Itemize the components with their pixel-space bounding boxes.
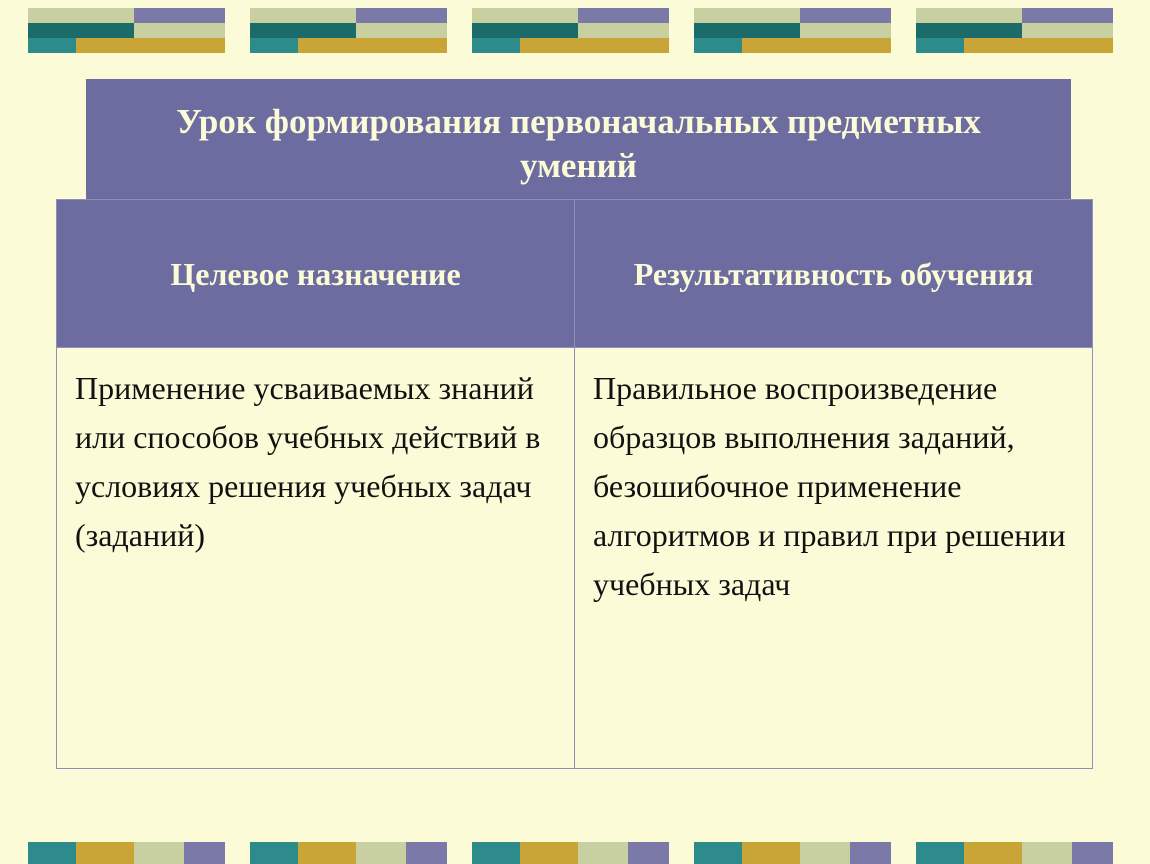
decor-bar-gold xyxy=(964,38,1113,53)
decor-bar-gold xyxy=(298,38,447,53)
decor-bar-olive xyxy=(694,8,800,23)
decor-bar-teal xyxy=(694,842,742,864)
decor-bar-purple xyxy=(134,8,225,23)
decor-bar-gold xyxy=(742,842,800,864)
decor-bar-purple xyxy=(850,842,891,864)
table-header: Целевое назначение Результативность обуч… xyxy=(57,200,1093,348)
page-title: Урок формирования первоначальных предмет… xyxy=(116,100,1041,188)
table-body: Применение усваиваемых знаний или способ… xyxy=(57,348,1093,769)
decor-bar-teal xyxy=(472,23,578,38)
decor-bar-gold xyxy=(520,842,578,864)
decor-bar-olive xyxy=(916,8,1022,23)
decor-bar-olive xyxy=(134,842,184,864)
decor-bar-olive xyxy=(578,842,628,864)
decor-bar-teal xyxy=(472,38,520,53)
table-header-effectiveness: Результативность обучения xyxy=(575,200,1093,348)
table-header-purpose: Целевое назначение xyxy=(57,200,575,348)
table-cell-purpose: Применение усваиваемых знаний или способ… xyxy=(57,348,575,769)
decor-bar-purple xyxy=(406,842,447,864)
decor-bar-olive xyxy=(472,8,578,23)
decor-bar-teal xyxy=(28,23,134,38)
decor-bar-teal xyxy=(916,38,964,53)
decor-bar-olive xyxy=(134,23,225,38)
decor-bar-teal xyxy=(694,38,742,53)
slide-title-banner: Урок формирования первоначальных предмет… xyxy=(86,79,1071,204)
decor-bar-gold xyxy=(742,38,891,53)
decor-bar-teal xyxy=(916,23,1022,38)
decor-bar-gold xyxy=(964,842,1022,864)
bottom-decorative-band xyxy=(0,838,1150,864)
content-table-wrapper: Целевое назначение Результативность обуч… xyxy=(56,199,1092,769)
decor-block-bottom xyxy=(694,842,891,864)
decor-block-bottom xyxy=(28,842,225,864)
decor-block xyxy=(916,8,1113,54)
decor-block-bottom xyxy=(250,842,447,864)
decor-bar-purple xyxy=(184,842,225,864)
content-table: Целевое назначение Результативность обуч… xyxy=(56,199,1093,769)
decor-bar-teal xyxy=(250,38,298,53)
decor-bar-olive xyxy=(800,842,850,864)
decor-bar-olive xyxy=(356,842,406,864)
decor-bar-teal xyxy=(916,842,964,864)
decor-bar-purple xyxy=(628,842,669,864)
top-decorative-band xyxy=(0,0,1150,62)
decor-block xyxy=(250,8,447,54)
decor-bar-gold xyxy=(76,38,225,53)
decor-bar-teal xyxy=(472,842,520,864)
decor-bar-olive xyxy=(1022,23,1113,38)
decor-block xyxy=(28,8,225,54)
decor-block-bottom xyxy=(472,842,669,864)
decor-bar-teal xyxy=(28,38,76,53)
decor-bar-olive xyxy=(578,23,669,38)
decor-block xyxy=(694,8,891,54)
decor-bar-gold xyxy=(520,38,669,53)
decor-bar-purple xyxy=(356,8,447,23)
decor-bar-purple xyxy=(578,8,669,23)
decor-bar-olive xyxy=(250,8,356,23)
decor-bar-olive xyxy=(356,23,447,38)
decor-bar-purple xyxy=(800,8,891,23)
table-row: Применение усваиваемых знаний или способ… xyxy=(57,348,1093,769)
decor-bar-purple xyxy=(1072,842,1113,864)
decor-bar-gold xyxy=(76,842,134,864)
table-header-row: Целевое назначение Результативность обуч… xyxy=(57,200,1093,348)
decor-bar-teal xyxy=(694,23,800,38)
decor-bar-teal xyxy=(250,842,298,864)
decor-bar-olive xyxy=(800,23,891,38)
decor-bar-purple xyxy=(1022,8,1113,23)
decor-block xyxy=(472,8,669,54)
decor-bar-teal xyxy=(250,23,356,38)
table-cell-effectiveness: Правильное воспроизведение образцов выпо… xyxy=(575,348,1093,769)
decor-block-bottom xyxy=(916,842,1113,864)
decor-bar-olive xyxy=(28,8,134,23)
decor-bar-gold xyxy=(298,842,356,864)
decor-bar-olive xyxy=(1022,842,1072,864)
decor-bar-teal xyxy=(28,842,76,864)
